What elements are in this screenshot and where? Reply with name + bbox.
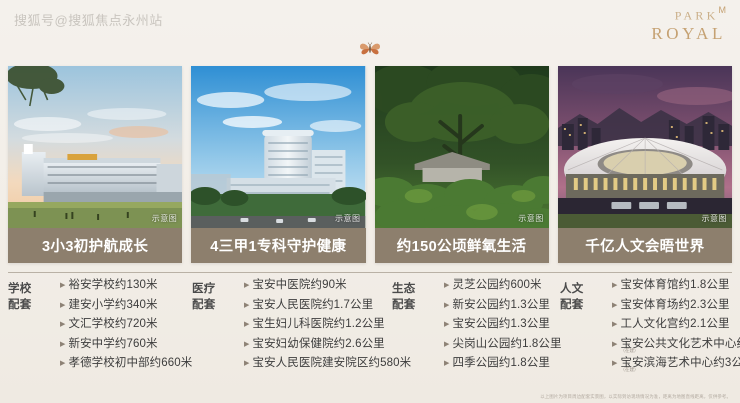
item-note: （在建） xyxy=(620,368,638,373)
section-divider xyxy=(8,272,732,273)
arrow-bullet-icon: ▶ xyxy=(612,302,617,309)
green-park-illustration xyxy=(375,66,549,228)
arrow-bullet-icon: ▶ xyxy=(244,302,249,309)
item-note: （在建） xyxy=(620,349,638,354)
card-caption-school: 3小3初护航成长 xyxy=(8,228,182,263)
amenity-list-school: ▶裕安学校约130米 ▶建安小学约340米 ▶文汇学校约720米 ▶新安中学约7… xyxy=(60,280,192,370)
amenity-column-title-ecology: 生态 配套 xyxy=(392,280,428,313)
feature-card-row: 示意图 3小3初护航成长 xyxy=(8,66,732,263)
arrow-bullet-icon: ▶ xyxy=(444,282,449,289)
card-image-medical: 示意图 xyxy=(191,66,365,228)
list-item: ▶宝生妇儿科医院约1.2公里 xyxy=(244,319,411,331)
feature-card-school[interactable]: 示意图 3小3初护航成长 xyxy=(8,66,182,263)
amenity-list-ecology: ▶灵芝公园约600米 ▶新安公园约1.3公里 ▶宝安公园约1.3公里 ▶尖岗山公… xyxy=(444,280,562,370)
list-item: ▶四季公园约1.8公里 xyxy=(444,358,562,370)
arrow-bullet-icon: ▶ xyxy=(60,302,65,309)
list-item: ▶宝安公共文化艺术中心约2.1公里（在建） xyxy=(612,339,740,351)
card-caption-medical: 4三甲1专科守护健康 xyxy=(191,228,365,263)
card-caption-ecology: 约150公顷鲜氧生活 xyxy=(375,228,549,263)
amenity-column-title-culture: 人文 配套 xyxy=(560,280,596,313)
hospital-illustration xyxy=(191,66,365,228)
amenity-column-culture: 人文 配套 ▶宝安体育馆约1.8公里 ▶宝安体育场约2.3公里 ▶工人文化宫约2… xyxy=(560,280,732,376)
list-item: ▶宝安人民医院建安院区约580米 xyxy=(244,358,411,370)
feature-card-medical[interactable]: 示意图 4三甲1专科守护健康 xyxy=(191,66,365,263)
arrow-bullet-icon: ▶ xyxy=(612,341,617,348)
card-image-ecology: 示意图 xyxy=(375,66,549,228)
arrow-bullet-icon: ▶ xyxy=(444,341,449,348)
list-item: ▶工人文化宫约2.1公里 xyxy=(612,319,740,331)
legal-disclaimer: 以上图片为项目周边配套实景图，以实际到访现场情况为准，距离为地图直线距离，仅供参… xyxy=(540,394,731,400)
list-item: ▶建安小学约340米 xyxy=(60,300,192,312)
list-item: ▶宝安体育馆约1.8公里 xyxy=(612,280,740,292)
amenities-panel: 学校 配套 ▶裕安学校约130米 ▶建安小学约340米 ▶文汇学校约720米 ▶… xyxy=(8,280,732,376)
list-item: ▶新安中学约760米 xyxy=(60,339,192,351)
list-item: ▶孝德学校初中部约660米 xyxy=(60,358,192,370)
card-image-culture: 示意图 xyxy=(558,66,732,228)
list-item: ▶尖岗山公园约1.8公里 xyxy=(444,339,562,351)
watermark-text: 搜狐号@搜狐焦点永州站 xyxy=(14,10,163,29)
amenity-column-medical: 医疗 配套 ▶宝安中医院约90米 ▶宝安人民医院约1.7公里 ▶宝生妇儿科医院约… xyxy=(192,280,392,376)
list-item: ▶宝安妇幼保健院约2.6公里 xyxy=(244,339,411,351)
list-item: ▶宝安滨海艺术中心约3公里（在建） xyxy=(612,358,740,370)
brand-name-park: PARKM xyxy=(651,6,726,24)
arrow-bullet-icon: ▶ xyxy=(612,360,617,367)
arrow-bullet-icon: ▶ xyxy=(444,360,449,367)
stadium-illustration xyxy=(558,66,732,228)
amenity-column-title-medical: 医疗 配套 xyxy=(192,280,228,313)
butterfly-icon xyxy=(359,41,381,57)
arrow-bullet-icon: ▶ xyxy=(244,360,249,367)
arrow-bullet-icon: ▶ xyxy=(444,302,449,309)
amenity-column-title-school: 学校 配套 xyxy=(8,280,44,313)
amenity-list-medical: ▶宝安中医院约90米 ▶宝安人民医院约1.7公里 ▶宝生妇儿科医院约1.2公里 … xyxy=(244,280,411,370)
amenity-column-ecology: 生态 配套 ▶灵芝公园约600米 ▶新安公园约1.3公里 ▶宝安公园约1.3公里… xyxy=(392,280,560,376)
butterfly-divider xyxy=(0,38,740,60)
arrow-bullet-icon: ▶ xyxy=(60,360,65,367)
image-disclaimer-tag: 示意图 xyxy=(152,213,178,224)
arrow-bullet-icon: ▶ xyxy=(444,321,449,328)
card-caption-culture: 千亿人文会晤世界 xyxy=(558,228,732,263)
list-item: ▶文汇学校约720米 xyxy=(60,319,192,331)
list-item: ▶宝安中医院约90米 xyxy=(244,280,411,292)
school-campus-illustration xyxy=(8,66,182,228)
image-disclaimer-tag: 示意图 xyxy=(335,213,361,224)
image-disclaimer-tag: 示意图 xyxy=(702,213,728,224)
card-image-school: 示意图 xyxy=(8,66,182,228)
feature-card-culture[interactable]: 示意图 千亿人文会晤世界 xyxy=(558,66,732,263)
list-item: ▶新安公园约1.3公里 xyxy=(444,300,562,312)
arrow-bullet-icon: ▶ xyxy=(612,282,617,289)
list-item: ▶灵芝公园约600米 xyxy=(444,280,562,292)
amenity-list-culture: ▶宝安体育馆约1.8公里 ▶宝安体育场约2.3公里 ▶工人文化宫约2.1公里 ▶… xyxy=(612,280,740,370)
arrow-bullet-icon: ▶ xyxy=(60,321,65,328)
arrow-bullet-icon: ▶ xyxy=(244,321,249,328)
list-item: ▶宝安体育场约2.3公里 xyxy=(612,300,740,312)
arrow-bullet-icon: ▶ xyxy=(244,282,249,289)
arrow-bullet-icon: ▶ xyxy=(60,341,65,348)
feature-card-ecology[interactable]: 示意图 约150公顷鲜氧生活 xyxy=(375,66,549,263)
list-item: ▶宝安公园约1.3公里 xyxy=(444,319,562,331)
list-item: ▶宝安人民医院约1.7公里 xyxy=(244,300,411,312)
amenity-column-school: 学校 配套 ▶裕安学校约130米 ▶建安小学约340米 ▶文汇学校约720米 ▶… xyxy=(8,280,192,376)
brand-monogram-icon: M xyxy=(719,5,727,15)
list-item: ▶裕安学校约130米 xyxy=(60,280,192,292)
image-disclaimer-tag: 示意图 xyxy=(518,213,544,224)
arrow-bullet-icon: ▶ xyxy=(612,321,617,328)
arrow-bullet-icon: ▶ xyxy=(244,341,249,348)
arrow-bullet-icon: ▶ xyxy=(60,282,65,289)
